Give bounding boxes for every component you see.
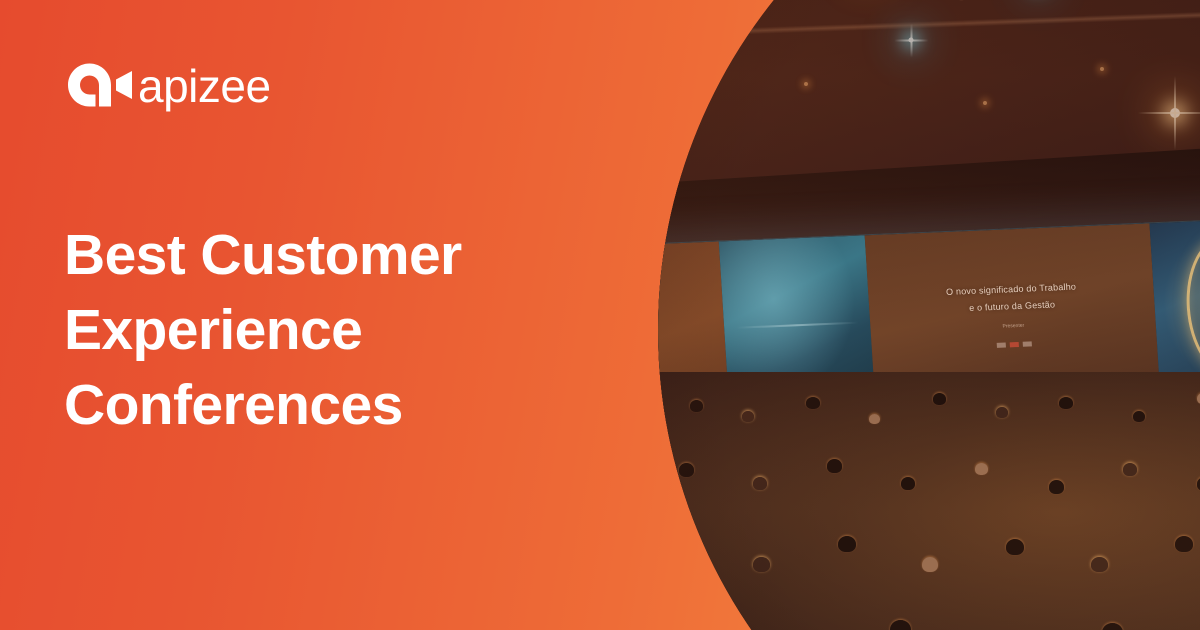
slide-speaker-credit: Presenter [1002,323,1024,330]
social-banner: O novo significado do Trabalho e o futur… [0,0,1200,630]
slide-title-line2: e o futuro da Gestão [969,299,1056,313]
stage-light-warm [1170,108,1180,118]
slide-sponsor-logos [997,341,1032,347]
audience-crowd [658,372,1200,630]
apizee-camera-a-mark-icon [64,60,136,112]
headline-line-3: Conferences [64,368,624,443]
headline-line-1: Best Customer [64,218,624,293]
slide-title-line1: O novo significado do Trabalho [946,281,1077,296]
apizee-logo[interactable]: apizee [64,60,271,112]
headline-line-2: Experience [64,293,624,368]
conference-auditorium-photo: O novo significado do Trabalho e o futur… [658,0,1200,630]
event-ring-logo-icon [1183,234,1200,377]
stage-light-cool [909,38,914,43]
apizee-wordmark: apizee [138,63,271,109]
page-title: Best Customer Experience Conferences [64,218,624,444]
